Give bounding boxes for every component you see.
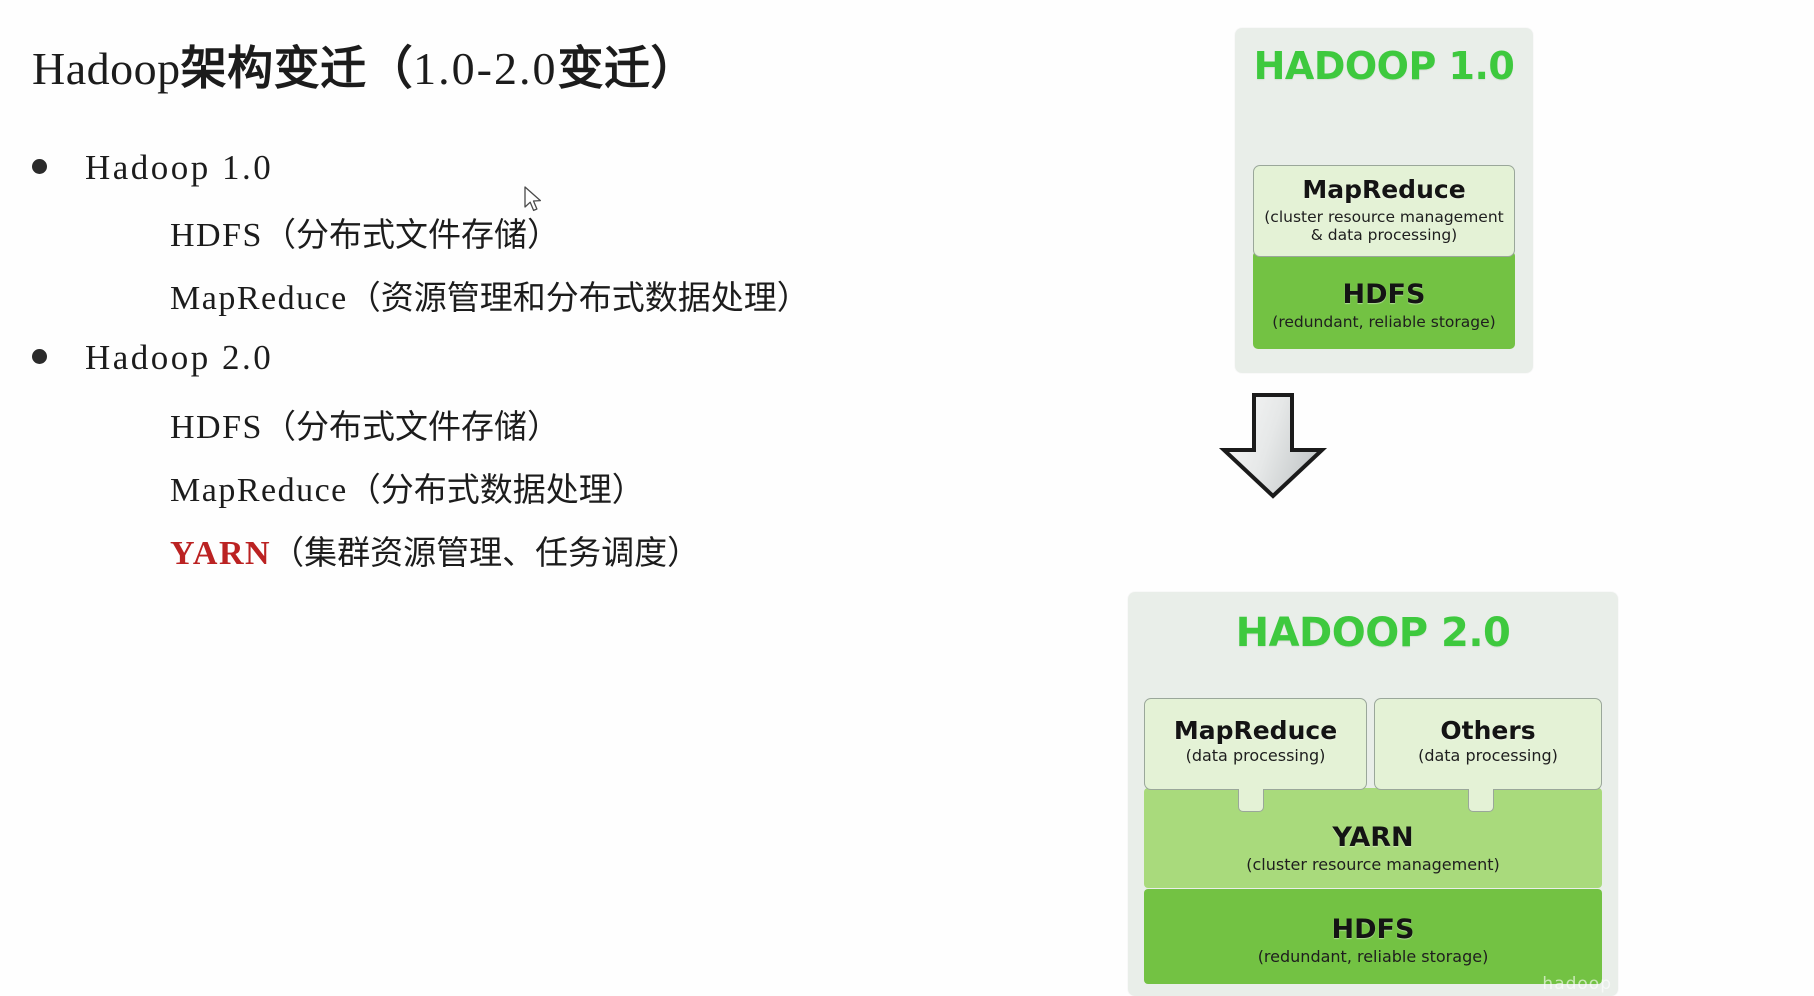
hadoop-2-hdfs-box: HDFS (redundant, reliable storage) [1144,889,1602,984]
hadoop-1-hdfs-box: HDFS (redundant, reliable storage) [1253,251,1515,349]
hadoop-1-hdfs-desc: (redundant, reliable storage) [1253,313,1515,331]
page-title-cjk-1: 架构变迁 [181,42,367,94]
hadoop-2-yarn-name: YARN [1144,822,1602,853]
watermark-text: hadoop [1542,974,1612,994]
page-title-paren-close: ） [650,42,697,94]
hadoop-2-yarn-box: YARN (cluster resource management) [1144,788,1602,888]
slide-text-column: Hadoop架构变迁（1.0-2.0变迁） Hadoop 1.0 HDFS（分布… [0,0,1060,996]
sub-item-h2-hdfs-term: HDFS [170,409,263,446]
page-title-cjk-2: 变迁 [557,42,650,94]
page-title-paren-open: （ [367,42,414,94]
sub-item-h1-hdfs-term: HDFS [170,217,263,254]
hadoop-1-hdfs-name: HDFS [1253,279,1515,310]
sub-item-h1-hdfs-desc: （分布式文件存储） [263,216,560,253]
bullet-dot-icon [32,349,47,364]
hadoop-2-title: HADOOP 2.0 [1128,592,1618,656]
hadoop-2-hdfs-name: HDFS [1144,914,1602,945]
connector-notch-mapreduce [1238,789,1264,812]
sub-item-h2-mapreduce: MapReduce（分布式数据处理） [170,463,645,511]
hadoop-1-card: HADOOP 1.0 MapReduce (cluster resource m… [1235,28,1533,373]
bullet-label-hadoop-1: Hadoop 1.0 [85,148,273,188]
connector-notch-others [1468,789,1494,812]
hadoop-2-mapreduce-box: MapReduce (data processing) [1144,698,1367,790]
sub-item-h1-mapreduce-term: MapReduce [170,280,348,317]
page-title-version-range: 1.0-2.0 [413,43,557,94]
hadoop-1-title: HADOOP 1.0 [1235,28,1533,88]
sub-item-h2-yarn: YARN（集群资源管理、任务调度） [170,526,700,574]
bullet-label-hadoop-2: Hadoop 2.0 [85,338,273,378]
bullet-item-hadoop-2: Hadoop 2.0 [32,338,273,378]
architecture-diagram-column: HADOOP 1.0 MapReduce (cluster resource m… [1060,0,1814,996]
sub-item-h2-mapreduce-desc: （分布式数据处理） [348,471,645,508]
hadoop-2-yarn-desc: (cluster resource management) [1144,856,1602,875]
hadoop-2-mapreduce-desc: (data processing) [1145,747,1366,766]
sub-item-h1-hdfs: HDFS（分布式文件存储） [170,208,560,256]
sub-item-h1-mapreduce-desc: （资源管理和分布式数据处理） [348,279,810,316]
hadoop-1-mapreduce-name: MapReduce [1254,175,1514,204]
hadoop-2-others-box: Others (data processing) [1374,698,1602,790]
down-arrow-icon [1218,392,1328,500]
sub-item-h2-yarn-term: YARN [170,535,271,572]
sub-item-h1-mapreduce: MapReduce（资源管理和分布式数据处理） [170,271,810,319]
hadoop-2-mapreduce-name: MapReduce [1145,716,1366,745]
sub-item-h2-hdfs: HDFS（分布式文件存储） [170,400,560,448]
hadoop-2-hdfs-desc: (redundant, reliable storage) [1144,948,1602,967]
page-title-latin: Hadoop [32,43,181,94]
bullet-item-hadoop-1: Hadoop 1.0 [32,148,273,188]
page-title: Hadoop架构变迁（1.0-2.0变迁） [32,32,697,98]
bullet-dot-icon [32,159,47,174]
sub-item-h2-yarn-desc: （集群资源管理、任务调度） [271,534,700,571]
hadoop-2-card: HADOOP 2.0 MapReduce (data processing) O… [1128,592,1618,996]
sub-item-h2-mapreduce-term: MapReduce [170,472,348,509]
hadoop-1-mapreduce-desc-line2: & data processing) [1254,226,1514,244]
hadoop-1-mapreduce-desc: (cluster resource management & data proc… [1254,208,1514,245]
hadoop-2-others-name: Others [1375,716,1601,745]
hadoop-2-others-desc: (data processing) [1375,747,1601,766]
sub-item-h2-hdfs-desc: （分布式文件存储） [263,408,560,445]
hadoop-1-mapreduce-box: MapReduce (cluster resource management &… [1253,165,1515,257]
hadoop-1-mapreduce-desc-line1: (cluster resource management [1254,208,1514,226]
